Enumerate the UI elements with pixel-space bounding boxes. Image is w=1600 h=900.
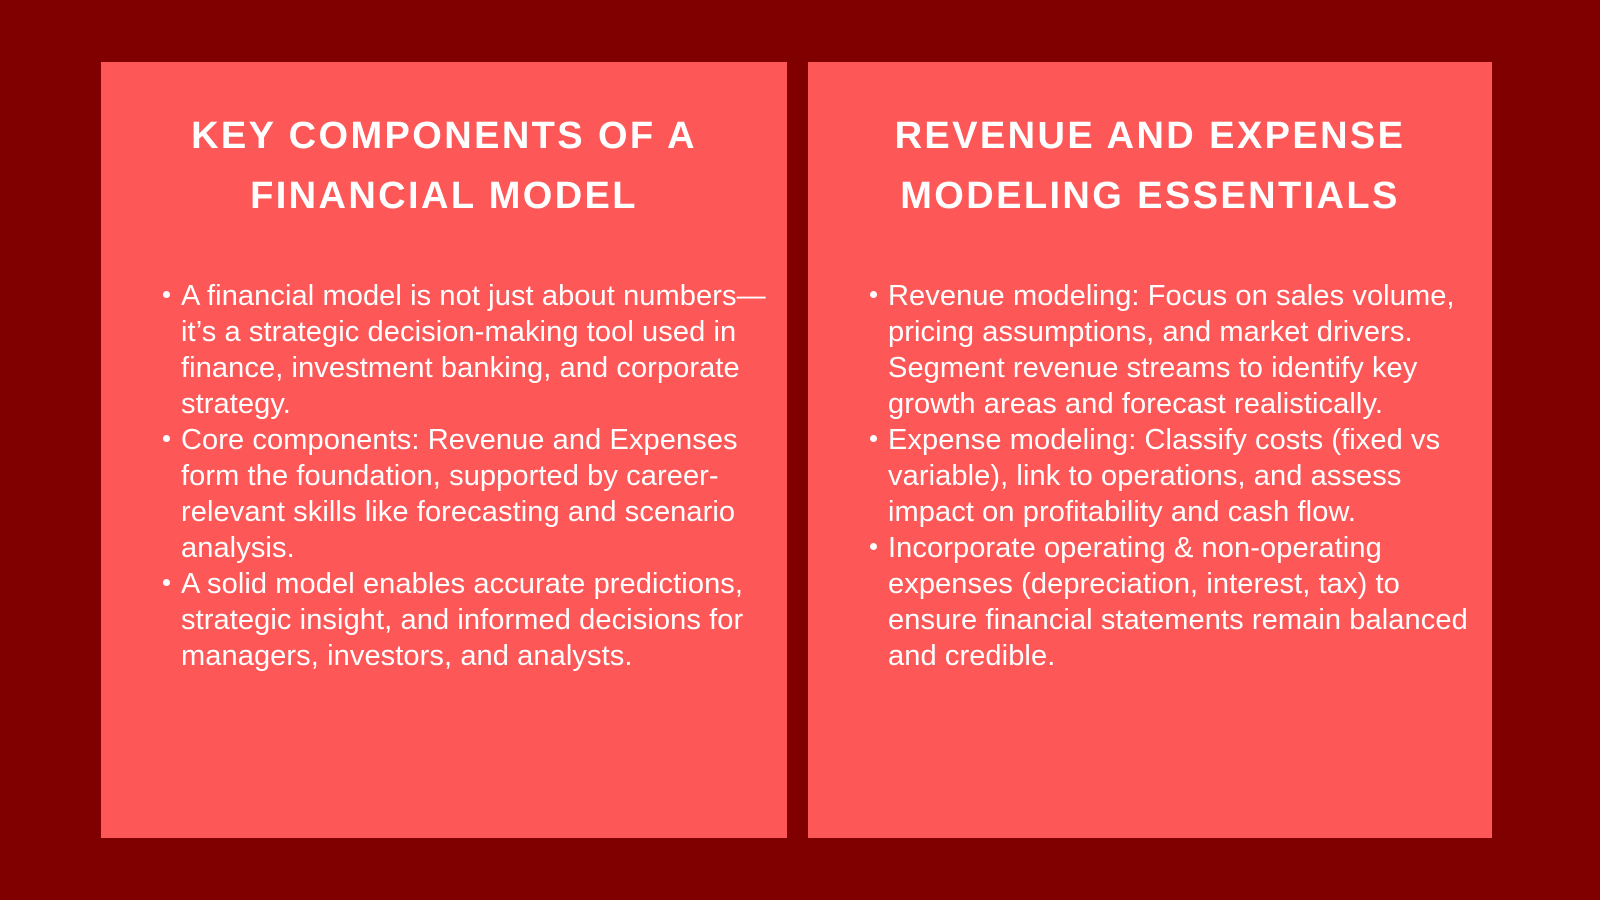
panel-right-heading: REVENUE AND EXPENSE MODELING ESSENTIALS [808, 62, 1492, 226]
panel-left-bullet-list: A financial model is not just about numb… [101, 278, 787, 674]
panel-right-bullet-list: Revenue modeling: Focus on sales volume,… [808, 278, 1492, 674]
bullet-dot-icon [870, 543, 877, 550]
list-item-text: Expense modeling: Classify costs (fixed … [888, 424, 1440, 528]
bullet-dot-icon [870, 291, 877, 298]
list-item: A financial model is not just about numb… [163, 278, 769, 422]
list-item: Incorporate operating & non-operating ex… [870, 530, 1482, 674]
panel-left-heading: KEY COMPONENTS OF A FINANCIAL MODEL [101, 62, 787, 226]
bullet-dot-icon [163, 435, 170, 442]
list-item: Revenue modeling: Focus on sales volume,… [870, 278, 1482, 422]
list-item-text: Core components: Revenue and Expenses fo… [181, 424, 738, 564]
list-item: A solid model enables accurate predictio… [163, 566, 769, 674]
list-item-text: A solid model enables accurate predictio… [181, 568, 743, 672]
list-item: Expense modeling: Classify costs (fixed … [870, 422, 1482, 530]
panel-revenue-expense: REVENUE AND EXPENSE MODELING ESSENTIALS … [808, 62, 1492, 838]
bullet-dot-icon [163, 579, 170, 586]
list-item-text: Incorporate operating & non-operating ex… [888, 532, 1468, 672]
list-item-text: A financial model is not just about numb… [181, 280, 766, 420]
list-item-text: Revenue modeling: Focus on sales volume,… [888, 280, 1455, 420]
list-item: Core components: Revenue and Expenses fo… [163, 422, 769, 566]
bullet-dot-icon [870, 435, 877, 442]
bullet-dot-icon [163, 291, 170, 298]
slide-canvas: KEY COMPONENTS OF A FINANCIAL MODEL A fi… [0, 0, 1600, 900]
panel-key-components: KEY COMPONENTS OF A FINANCIAL MODEL A fi… [101, 62, 787, 838]
